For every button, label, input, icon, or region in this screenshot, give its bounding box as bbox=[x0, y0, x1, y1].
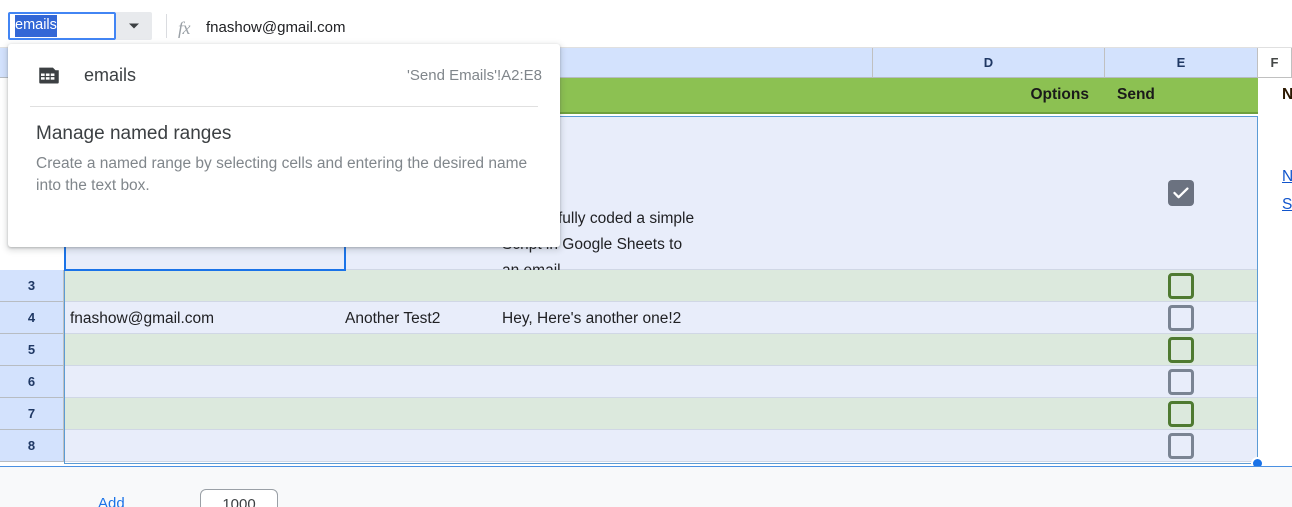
name-box-wrapper[interactable]: emails bbox=[8, 12, 156, 40]
green-header-cell-d1[interactable]: Options bbox=[873, 78, 1105, 114]
name-box-dropdown-button[interactable] bbox=[116, 12, 152, 40]
grid-row-3[interactable] bbox=[64, 270, 1258, 302]
column-header-f[interactable]: F bbox=[1258, 48, 1292, 78]
formula-bar-area: emails fx fnashow@gmail.com bbox=[0, 0, 1292, 48]
chevron-down-icon bbox=[128, 22, 140, 30]
column-header-d[interactable]: D bbox=[873, 48, 1105, 78]
checkbox-row-6[interactable] bbox=[1168, 369, 1194, 395]
row-header-4[interactable]: 4 bbox=[0, 302, 64, 334]
f-column-link-fragment-1[interactable]: N bbox=[1282, 168, 1292, 186]
column-header-e[interactable]: E bbox=[1105, 48, 1258, 78]
checkbox-row-4[interactable] bbox=[1168, 305, 1194, 331]
checkbox-row-2[interactable] bbox=[1168, 180, 1194, 206]
manage-named-ranges-section[interactable]: Manage named ranges Create a named range… bbox=[8, 107, 560, 198]
grid-row-5[interactable] bbox=[64, 334, 1258, 366]
add-rows-link[interactable]: Add bbox=[98, 495, 125, 507]
named-range-item-range: 'Send Emails'!A2:E8 bbox=[407, 67, 542, 84]
named-range-grid-icon bbox=[36, 62, 62, 88]
grid-row-7[interactable] bbox=[64, 398, 1258, 430]
f-column-link-fragment-2[interactable]: S bbox=[1282, 196, 1292, 214]
grid-row-8[interactable] bbox=[64, 430, 1258, 462]
grid-bottom-strip bbox=[0, 466, 1292, 507]
check-icon bbox=[1173, 187, 1189, 199]
grid-row-6[interactable] bbox=[64, 366, 1258, 398]
add-rows-count-input[interactable]: 1000 bbox=[200, 489, 278, 507]
spreadsheet-app: emails fx fnashow@gmail.com C D E F Opti… bbox=[0, 0, 1292, 507]
row-header-5[interactable]: 5 bbox=[0, 334, 64, 366]
green-header-cell-e1[interactable]: Send bbox=[1105, 78, 1258, 114]
named-range-item-emails[interactable]: emails 'Send Emails'!A2:E8 bbox=[8, 44, 560, 106]
row-header-3[interactable]: 3 bbox=[0, 270, 64, 302]
manage-named-ranges-title: Manage named ranges bbox=[36, 123, 532, 145]
named-ranges-dropdown-panel[interactable]: emails 'Send Emails'!A2:E8 Manage named … bbox=[8, 44, 560, 247]
f-column-header-fragment: N bbox=[1282, 86, 1292, 104]
checkbox-row-8[interactable] bbox=[1168, 433, 1194, 459]
checkbox-row-5[interactable] bbox=[1168, 337, 1194, 363]
name-box-input[interactable]: emails bbox=[8, 12, 116, 40]
function-icon[interactable]: fx bbox=[178, 18, 190, 39]
row4-body-cell[interactable]: Hey, Here's another one!2 bbox=[502, 306, 681, 332]
formula-bar-divider bbox=[166, 14, 167, 38]
row4-subject-cell[interactable]: Another Test2 bbox=[345, 306, 440, 332]
named-range-item-name: emails bbox=[84, 65, 407, 86]
row4-email-cell[interactable]: fnashow@gmail.com bbox=[70, 306, 214, 332]
checkbox-row-3[interactable] bbox=[1168, 273, 1194, 299]
checkbox-row-7[interactable] bbox=[1168, 401, 1194, 427]
manage-named-ranges-description: Create a named range by selecting cells … bbox=[36, 153, 532, 198]
row-header-6[interactable]: 6 bbox=[0, 366, 64, 398]
formula-input[interactable]: fnashow@gmail.com bbox=[206, 19, 345, 36]
row-header-7[interactable]: 7 bbox=[0, 398, 64, 430]
name-box-value: emails bbox=[15, 15, 57, 38]
row-header-8[interactable]: 8 bbox=[0, 430, 64, 462]
